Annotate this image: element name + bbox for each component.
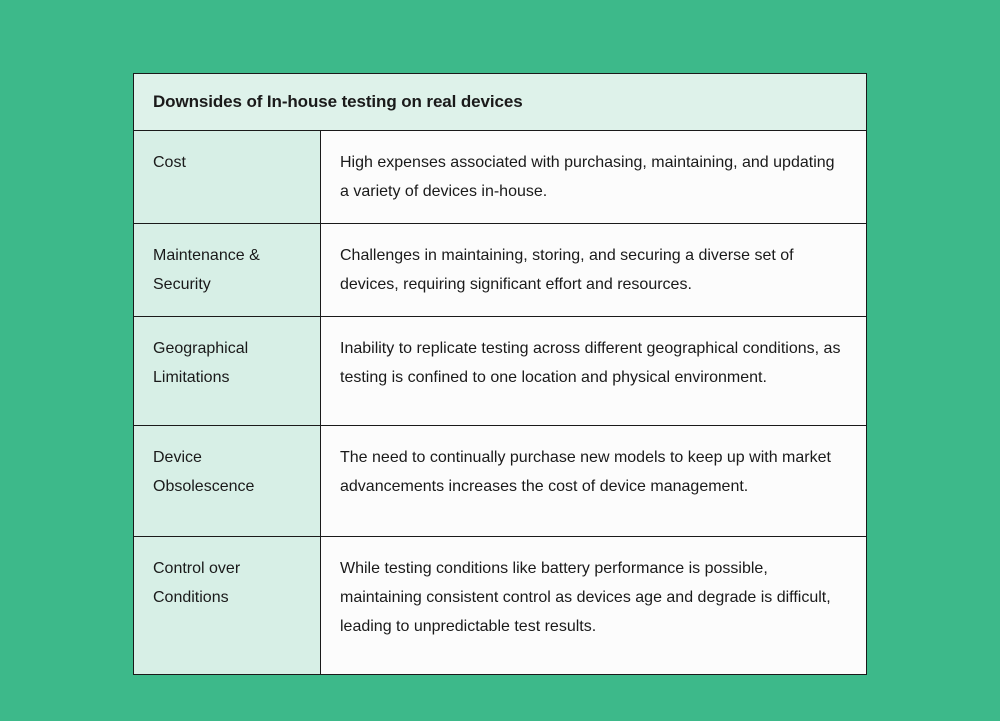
- row-label: Geographical Limitations: [134, 317, 321, 426]
- table-container: Downsides of In-house testing on real de…: [133, 73, 866, 675]
- row-label: Maintenance & Security: [134, 224, 321, 317]
- table-row: Control over Conditions While testing co…: [134, 537, 867, 675]
- table-body: Cost High expenses associated with purch…: [134, 131, 867, 675]
- row-description: The need to continually purchase new mod…: [321, 426, 867, 537]
- table-row: Maintenance & Security Challenges in mai…: [134, 224, 867, 317]
- table-row: Cost High expenses associated with purch…: [134, 131, 867, 224]
- row-label: Control over Conditions: [134, 537, 321, 675]
- row-description: Challenges in maintaining, storing, and …: [321, 224, 867, 317]
- table-row: Geographical Limitations Inability to re…: [134, 317, 867, 426]
- row-description: While testing conditions like battery pe…: [321, 537, 867, 675]
- row-label: Device Obsolescence: [134, 426, 321, 537]
- table-header-row: Downsides of In-house testing on real de…: [134, 74, 867, 131]
- table-header: Downsides of In-house testing on real de…: [134, 74, 867, 131]
- page-canvas: Downsides of In-house testing on real de…: [0, 0, 1000, 721]
- row-description: High expenses associated with purchasing…: [321, 131, 867, 224]
- row-description: Inability to replicate testing across di…: [321, 317, 867, 426]
- table-title: Downsides of In-house testing on real de…: [134, 74, 867, 131]
- row-label: Cost: [134, 131, 321, 224]
- table-row: Device Obsolescence The need to continua…: [134, 426, 867, 537]
- downsides-table: Downsides of In-house testing on real de…: [133, 73, 867, 675]
